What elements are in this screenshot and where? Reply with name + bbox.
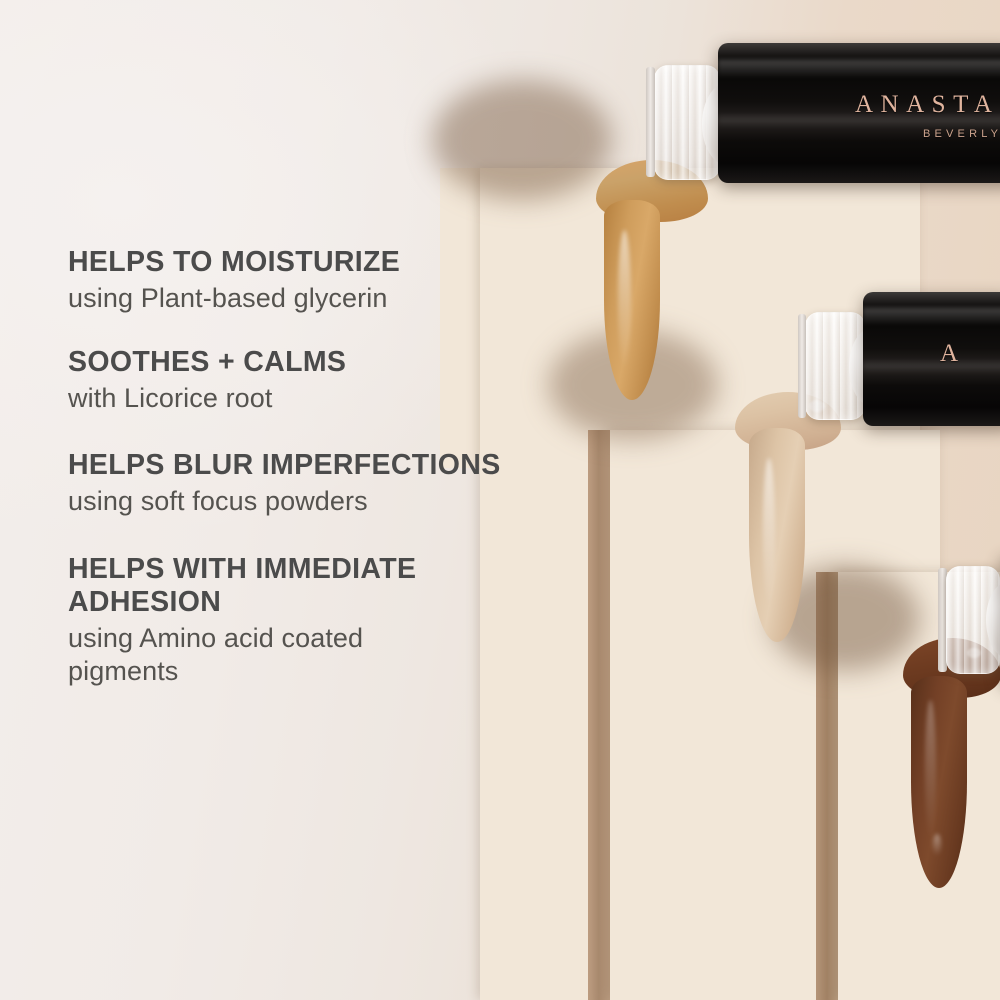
benefit-subtitle-1: using Plant-based glycerin [68,282,608,314]
drip-run-3 [911,676,967,888]
brand-tagline-text-1: BEVERLY HILL [923,128,1000,140]
benefit-title-3: HELPS BLUR IMPERFECTIONS [68,449,608,482]
brand-name-text-2: A [940,340,966,368]
benefit-subtitle-4: using Amino acid coated pigments [68,622,458,687]
tube-body-2 [863,292,1000,426]
benefits-list: HELPS TO MOISTURIZE using Plant-based gl… [68,246,608,687]
tube-collar-2 [798,314,806,418]
tube-shadow-1 [432,80,612,200]
drip-highlight-3b [933,834,941,856]
tube-gloss-2b [863,362,1000,374]
brand-logo-2: A [940,340,966,368]
tube-collar-1 [646,67,655,177]
drip-run-2 [749,428,805,642]
benefit-subtitle-3: using soft focus powders [68,485,608,517]
brand-name-text-1: ANASTA [855,91,1000,119]
product-drip-1 [596,160,716,400]
drip-highlight-2 [763,458,775,608]
product-tube-3[interactable] [938,548,1000,698]
benefit-item-2: SOOTHES + CALMS with Licorice root [68,346,608,414]
benefit-item-1: HELPS TO MOISTURIZE using Plant-based gl… [68,246,608,314]
drip-run-1 [604,200,660,400]
drip-highlight-1 [618,230,631,370]
benefit-title-1: HELPS TO MOISTURIZE [68,246,608,279]
product-tube-2[interactable]: A [795,278,1000,438]
benefit-subtitle-2: with Licorice root [68,382,608,414]
marketing-image-canvas: ANASTA BEVERLY HILL A [0,0,1000,1000]
benefit-title-2: SOOTHES + CALMS [68,346,608,379]
benefit-item-3: HELPS BLUR IMPERFECTIONS using soft focu… [68,449,608,517]
drip-highlight-3 [925,700,936,840]
product-tube-1[interactable]: ANASTA BEVERLY HILL [640,25,1000,190]
benefit-title-4: HELPS WITH IMMEDIATE ADHESION [68,553,508,619]
tube-gloss-1 [718,60,1000,78]
benefit-item-4: HELPS WITH IMMEDIATE ADHESION using Amin… [68,553,508,687]
brand-logo-1: ANASTA BEVERLY HILL [855,91,1000,140]
tube-gloss-2 [863,308,1000,325]
